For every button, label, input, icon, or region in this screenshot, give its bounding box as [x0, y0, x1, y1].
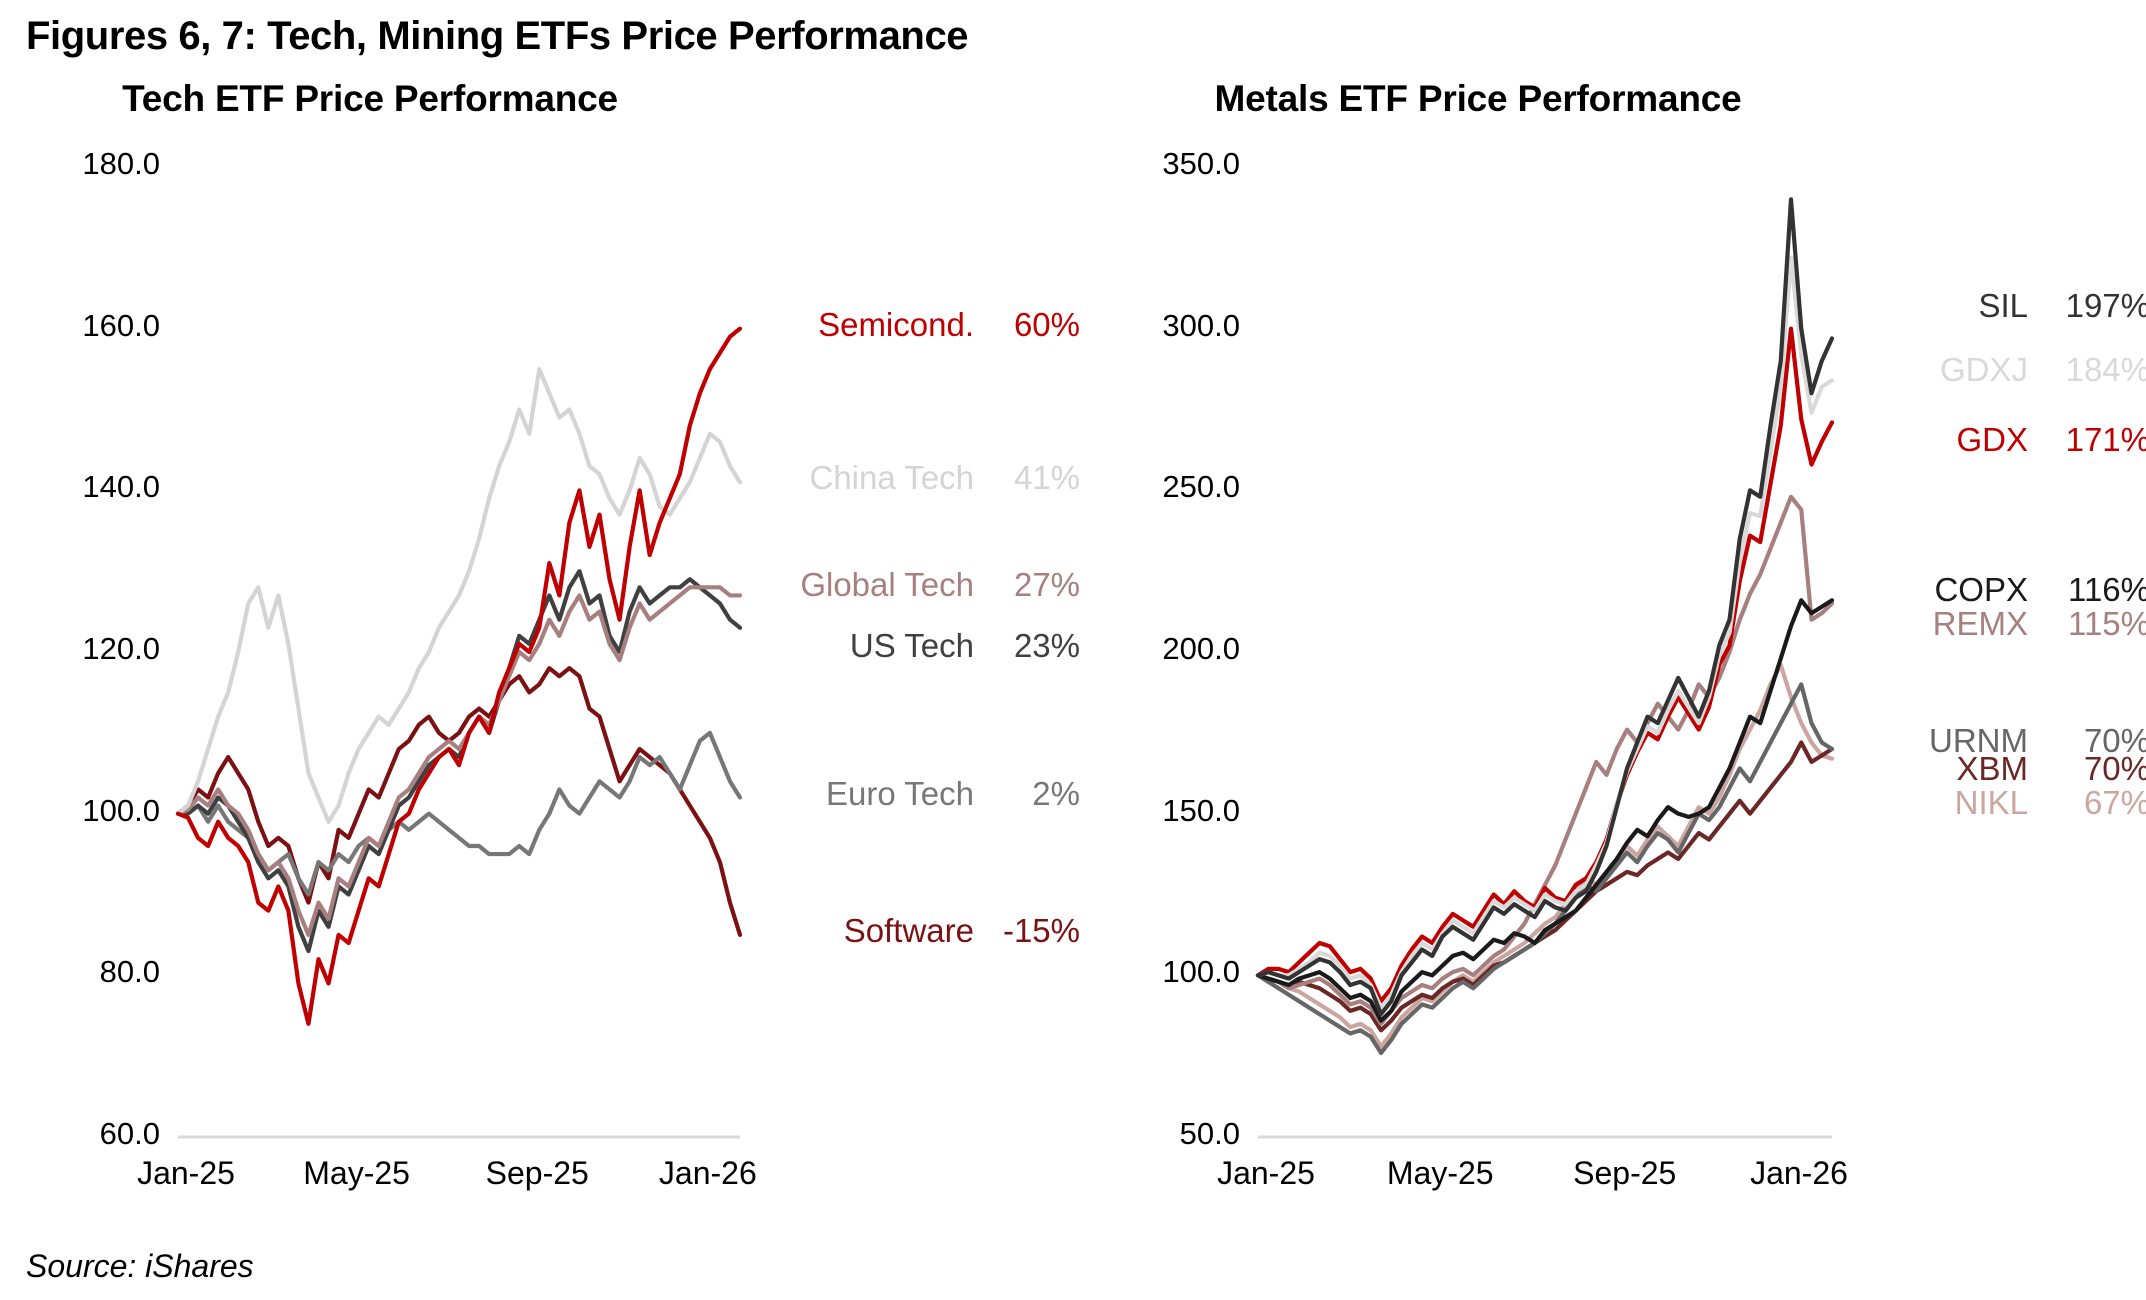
legend-value: 60%	[988, 306, 1080, 344]
x-tick-label: May-25	[1340, 1155, 1540, 1192]
legend-value: 23%	[988, 627, 1080, 665]
x-tick-label: Jan-26	[608, 1155, 808, 1192]
legend-label: Euro Tech	[752, 775, 974, 813]
legend-value: 67%	[2042, 784, 2146, 822]
legend-entry-global-tech: Global Tech27%	[752, 566, 1080, 604]
legend-value: -15%	[988, 912, 1080, 950]
x-tick-label: May-25	[257, 1155, 457, 1192]
series-line-semicond	[178, 329, 740, 1024]
legend-entry-sil: SIL197%	[1848, 287, 2146, 325]
legend-label: XBM	[1848, 750, 2028, 788]
legend-label: China Tech	[752, 459, 974, 497]
legend-label: Global Tech	[752, 566, 974, 604]
figure-root: Figures 6, 7: Tech, Mining ETFs Price Pe…	[0, 0, 2146, 1300]
y-tick-label: 350.0	[1080, 146, 1240, 182]
y-tick-label: 80.0	[0, 954, 160, 990]
legend-value: 27%	[988, 566, 1080, 604]
source-note: Source: iShares	[26, 1248, 254, 1285]
chart-panel-metals: Metals ETF Price Performance 50.0100.015…	[1070, 72, 2146, 1252]
legend-entry-us-tech: US Tech23%	[752, 627, 1080, 665]
legend-entry-remx: REMX115%	[1848, 605, 2146, 643]
y-tick-label: 150.0	[1080, 793, 1240, 829]
legend-value: 184%	[2042, 351, 2146, 389]
y-tick-label: 200.0	[1080, 631, 1240, 667]
legend-label: Software	[752, 912, 974, 950]
legend-label: REMX	[1848, 605, 2028, 643]
page-title: Figures 6, 7: Tech, Mining ETFs Price Pe…	[26, 14, 968, 59]
legend-entry-china-tech: China Tech41%	[752, 459, 1080, 497]
legend-value: 115%	[2042, 605, 2146, 643]
x-tick-label: Jan-25	[1166, 1155, 1366, 1192]
y-tick-label: 180.0	[0, 146, 160, 182]
legend-label: GDXJ	[1848, 351, 2028, 389]
legend-entry-semicond: Semicond.60%	[752, 306, 1080, 344]
legend-label: US Tech	[752, 627, 974, 665]
legend-value: 2%	[988, 775, 1080, 813]
legend-entry-gdx: GDX171%	[1848, 421, 2146, 459]
legend-value: 171%	[2042, 421, 2146, 459]
legend-entry-software: Software-15%	[752, 912, 1080, 950]
legend-entry-gdxj: GDXJ184%	[1848, 351, 2146, 389]
series-line-remx	[1258, 497, 1832, 1024]
y-tick-label: 140.0	[0, 469, 160, 505]
legend-entry-xbm: XBM70%	[1848, 750, 2146, 788]
x-tick-label: Sep-25	[1525, 1155, 1725, 1192]
y-tick-label: 100.0	[1080, 954, 1240, 990]
legend-entry-nikl: NIKL67%	[1848, 784, 2146, 822]
legend-value: 197%	[2042, 287, 2146, 325]
chart-panel-tech: Tech ETF Price Performance 60.080.0100.0…	[0, 72, 1070, 1252]
y-tick-label: 50.0	[1080, 1116, 1240, 1152]
y-tick-label: 250.0	[1080, 469, 1240, 505]
y-tick-label: 160.0	[0, 308, 160, 344]
legend-value: 70%	[2042, 750, 2146, 788]
y-tick-label: 60.0	[0, 1116, 160, 1152]
y-tick-label: 120.0	[0, 631, 160, 667]
legend-label: Semicond.	[752, 306, 974, 344]
legend-entry-euro-tech: Euro Tech2%	[752, 775, 1080, 813]
legend-label: NIKL	[1848, 784, 2028, 822]
series-line-software	[178, 668, 740, 935]
x-tick-label: Jan-26	[1699, 1155, 1899, 1192]
legend-label: GDX	[1848, 421, 2028, 459]
legend-label: SIL	[1848, 287, 2028, 325]
series-line-gdxj	[1258, 258, 1832, 1008]
y-tick-label: 100.0	[0, 793, 160, 829]
y-tick-label: 300.0	[1080, 308, 1240, 344]
legend-value: 41%	[988, 459, 1080, 497]
